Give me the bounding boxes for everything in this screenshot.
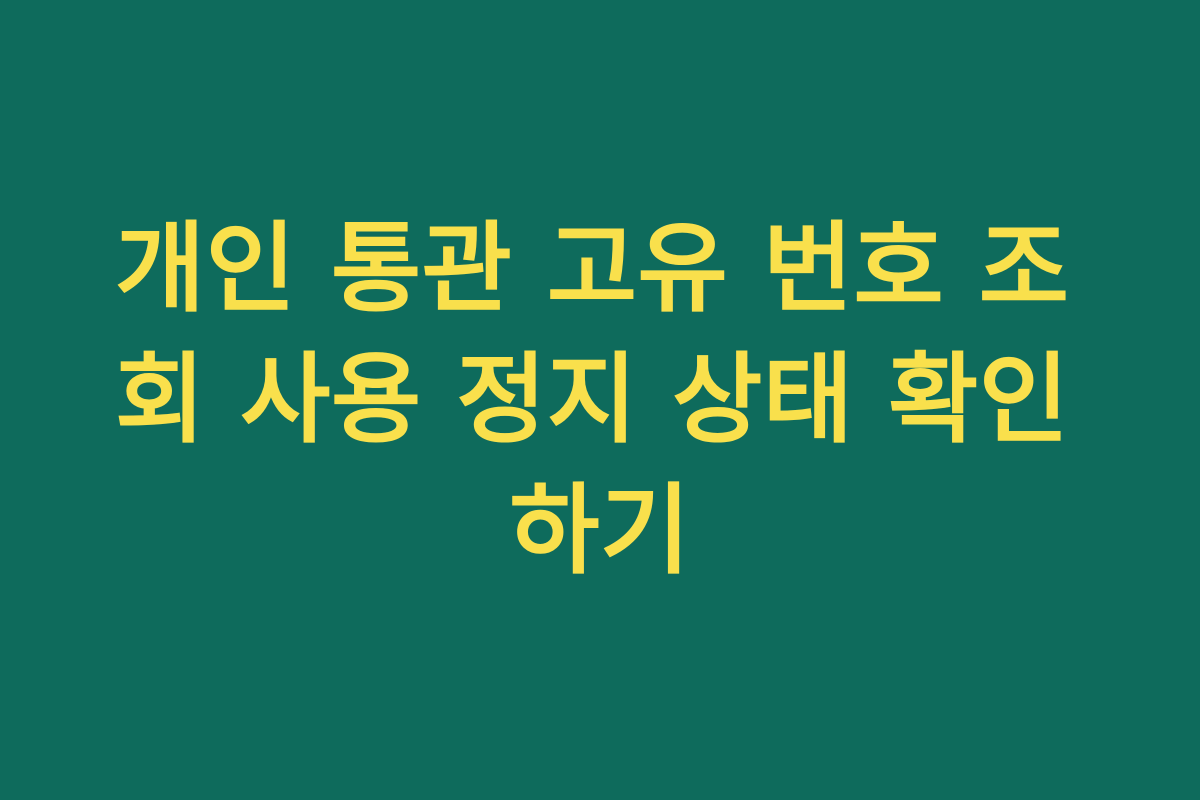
title-card-banner: 개인 통관 고유 번호 조 회 사용 정지 상태 확인 하기 — [0, 0, 1200, 800]
headline-line-2: 회 사용 정지 상태 확인 — [111, 335, 1089, 466]
headline-line-3: 하기 — [111, 466, 1089, 597]
page-title: 개인 통관 고유 번호 조 회 사용 정지 상태 확인 하기 — [111, 204, 1089, 597]
headline-line-1: 개인 통관 고유 번호 조 — [111, 204, 1089, 335]
